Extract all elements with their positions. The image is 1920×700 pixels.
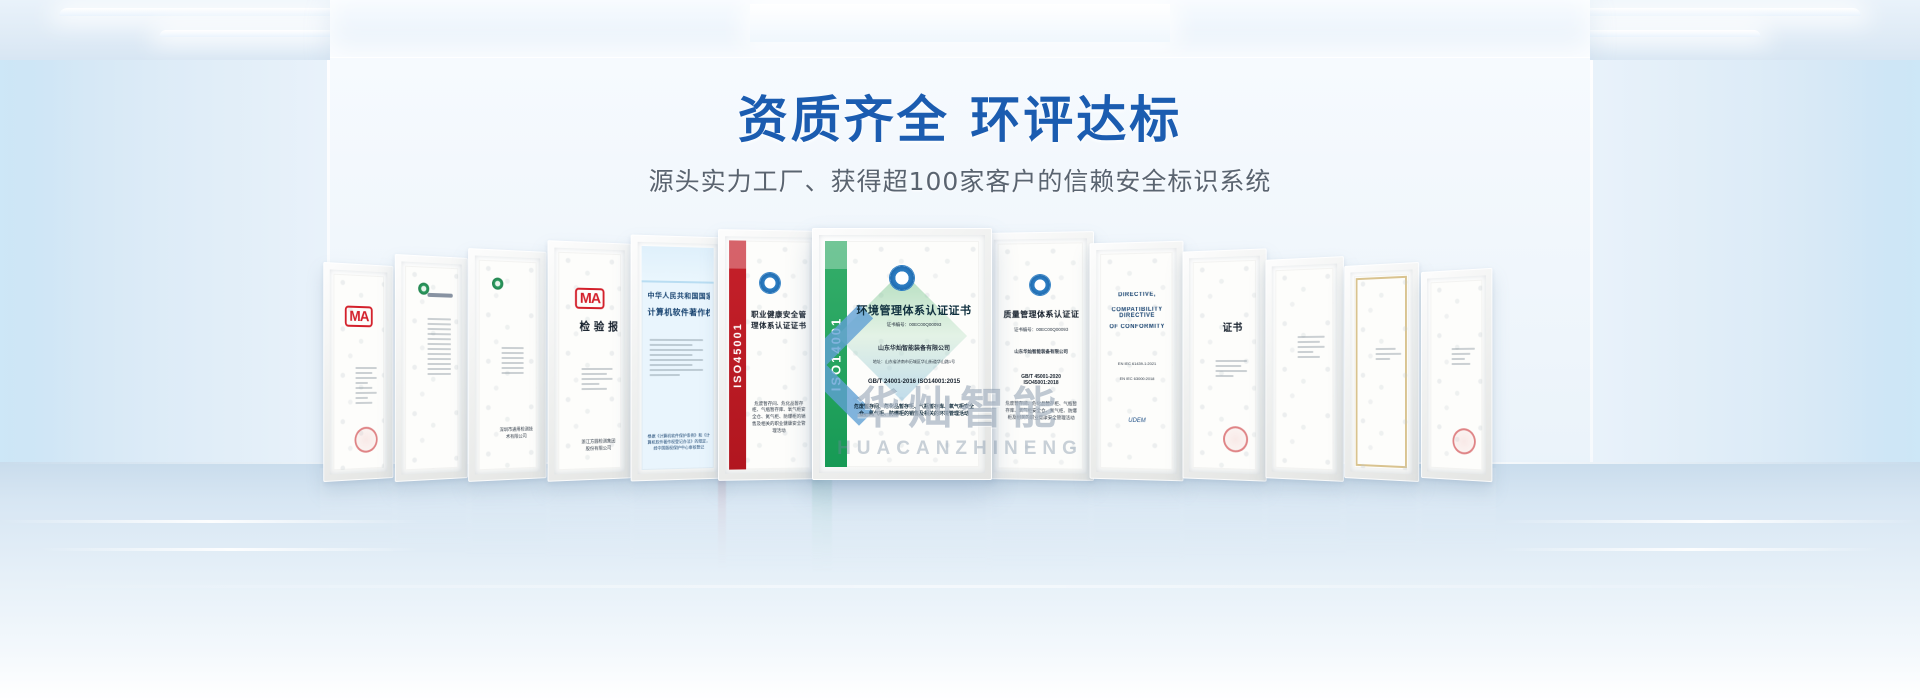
certificate-title: 环境管理体系认证证书 xyxy=(853,302,975,318)
certificate-scope: 危废暂存间、危化品暂存柜、气瓶暂存库、氧气柜安全仓、氮气柜、防爆柜及相关的职业健… xyxy=(1003,401,1078,422)
certificate-number: 证书编号：00EC00Q00093 xyxy=(1003,326,1078,333)
iso-standard-label: ISO45001 xyxy=(732,322,744,388)
certificate-org: 山东华灿智能装备有限公司 xyxy=(853,345,975,354)
ce-title-line2: COMPATIBILITY DIRECTIVE xyxy=(1106,307,1169,320)
certificate-frame[interactable]: 中华人民共和国国家版权局 计算机软件著作权登记证书 根据《计算机软件保护条例》和… xyxy=(631,235,725,482)
certificate-scope: 危废暂存间、危化品暂存柜、气瓶暂存库、氧气柜安全仓、氮气柜、防爆柜的销售及相关的… xyxy=(751,400,806,434)
ce-title-line3: OF CONFORMITY xyxy=(1106,324,1169,331)
certification-emblem-icon xyxy=(890,266,914,290)
certificate-number: 证书编号：00EC00Q00093 xyxy=(853,322,975,329)
cma-badge: MA xyxy=(575,287,605,309)
ceiling-recess xyxy=(330,0,1590,60)
certification-emblem-icon xyxy=(760,273,780,293)
cma-badge: MA xyxy=(345,306,373,328)
certificate-frame[interactable]: MA 检 验 报 告 浙江方圆检测集团股份有限公司 xyxy=(548,240,632,482)
certificate-footer: 根据《计算机软件保护条例》和《计算机软件著作权登记办法》的规定，经中国版权保护中… xyxy=(648,433,710,452)
certificate-frame-iso45001[interactable]: ISO45001 职业健康安全管理体系认证证书 危废暂存间、危化品暂存柜、气瓶暂… xyxy=(718,229,821,481)
decorative-band xyxy=(642,246,714,283)
certificate-wall: MA xyxy=(300,228,1620,480)
certificate-scope: 危废暂存间、危化品暂存柜、气瓶暂存库、氧气柜安全仓、氮气柜、防爆柜的销售及相关的… xyxy=(853,404,975,419)
ce-standard-2: EN IEC 63000:2018 xyxy=(1106,376,1169,382)
banner-headline: 资质齐全 环评达标 xyxy=(0,92,1920,148)
certificate-org: 浙江方圆检测集团股份有限公司 xyxy=(579,438,617,453)
lab-logo-icon xyxy=(492,277,503,289)
ce-title-line1: DIRECTIVE, xyxy=(1106,291,1169,298)
certificate-title-line1: 中华人民共和国国家版权局 xyxy=(648,291,710,302)
qualification-banner: 资质齐全 环评达标 源头实力工厂、获得超100家客户的信赖安全标识系统 MA xyxy=(0,0,1920,700)
certificate-frame[interactable] xyxy=(1265,256,1343,482)
certificate-standard: GB/T 45001-2020 ISO45001:2018 xyxy=(1003,374,1078,386)
certificate-frame[interactable] xyxy=(1344,262,1419,482)
iso-sidebar: ISO45001 xyxy=(729,240,746,469)
certificate-org: 山东华灿智能装备有限公司 xyxy=(1003,349,1078,356)
certification-emblem-icon xyxy=(1030,275,1050,295)
certificate-frame[interactable]: MA xyxy=(323,262,393,482)
certificate-frame[interactable] xyxy=(395,254,468,482)
ceiling-recess-inner xyxy=(750,4,1170,42)
certificate-floor-reflections xyxy=(300,468,1620,588)
ce-signature: UDEM xyxy=(1106,417,1169,427)
certificate-title: 检 验 报 告 xyxy=(579,318,617,334)
red-seal-stamp xyxy=(1452,428,1475,455)
certificate-title: 证书 xyxy=(1214,319,1252,335)
certificate-org-address: 地址：山东省济南市历城区华山街道华山路1号 xyxy=(853,359,975,365)
certificate-title: 质量管理体系认证证书 xyxy=(1003,308,1078,319)
banner-text-block: 资质齐全 环评达标 源头实力工厂、获得超100家客户的信赖安全标识系统 xyxy=(0,92,1920,198)
certificate-frame[interactable]: 深圳市通用检测技术有限公司 xyxy=(468,248,546,482)
banner-subheadline: 源头实力工厂、获得超100家客户的信赖安全标识系统 xyxy=(0,162,1920,198)
certificate-frame[interactable]: 质量管理体系认证证书 证书编号：00EC00Q00093 山东华灿智能装备有限公… xyxy=(987,231,1094,481)
certificate-title-line2: 计算机软件著作权登记证书 xyxy=(648,307,710,319)
certificate-frame[interactable] xyxy=(1421,268,1492,482)
certificate-org: 深圳市通用检测技术有限公司 xyxy=(500,427,533,441)
certificate-standard: GB/T 24001-2016 ISO14001:2015 xyxy=(853,379,975,385)
ce-standard-1: EN IEC 61439-1:2021 xyxy=(1106,361,1169,367)
certificate-frame[interactable]: 证书 xyxy=(1183,248,1267,481)
certificate-frame[interactable]: DIRECTIVE, COMPATIBILITY DIRECTIVE OF CO… xyxy=(1090,241,1184,482)
certificate-title: 职业健康安全管理体系认证证书 xyxy=(751,309,806,331)
certificate-frame-iso14001[interactable]: ISO14001 环境管理体系认证证书 证书编号：00EC00Q00093 山东… xyxy=(812,228,992,480)
